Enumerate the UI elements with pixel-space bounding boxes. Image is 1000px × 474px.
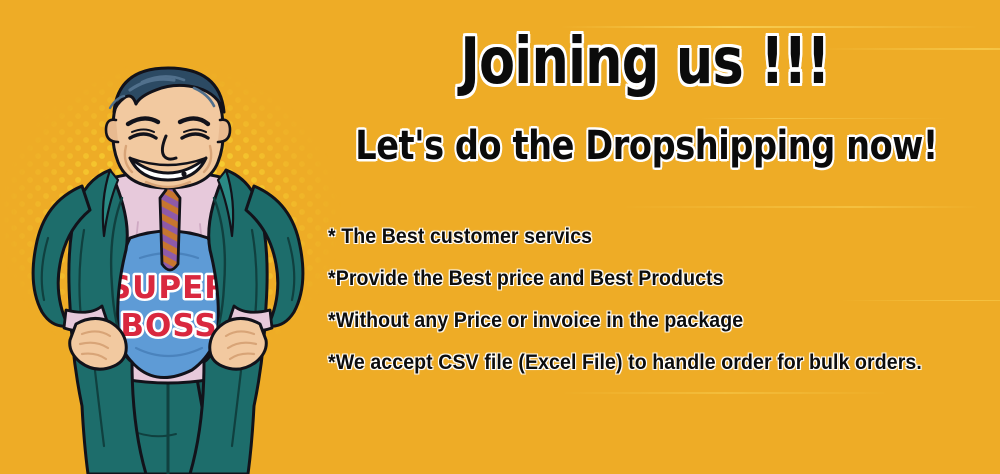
feature-bullet-item: *We accept CSV file (Excel File) to hand… (328, 342, 953, 384)
promo-banner: SUPER BOSS (0, 0, 1000, 474)
banner-headline: Joining us !!! (362, 30, 928, 94)
feature-bullet-item: *Provide the Best price and Best Product… (328, 258, 953, 300)
svg-text:SUPER: SUPER (109, 270, 229, 306)
feature-bullet-item: * The Best customer servics (328, 216, 953, 258)
feature-bullet-list: * The Best customer servics *Provide the… (328, 216, 1000, 384)
svg-text:BOSS: BOSS (120, 308, 217, 344)
super-boss-illustration: SUPER BOSS (18, 62, 318, 474)
feature-bullet-item: *Without any Price or invoice in the pac… (328, 300, 953, 342)
banner-subheadline: Let's do the Dropshipping now! (355, 124, 935, 168)
banner-copy: Joining us !!! Let's do the Dropshipping… (300, 0, 1000, 474)
